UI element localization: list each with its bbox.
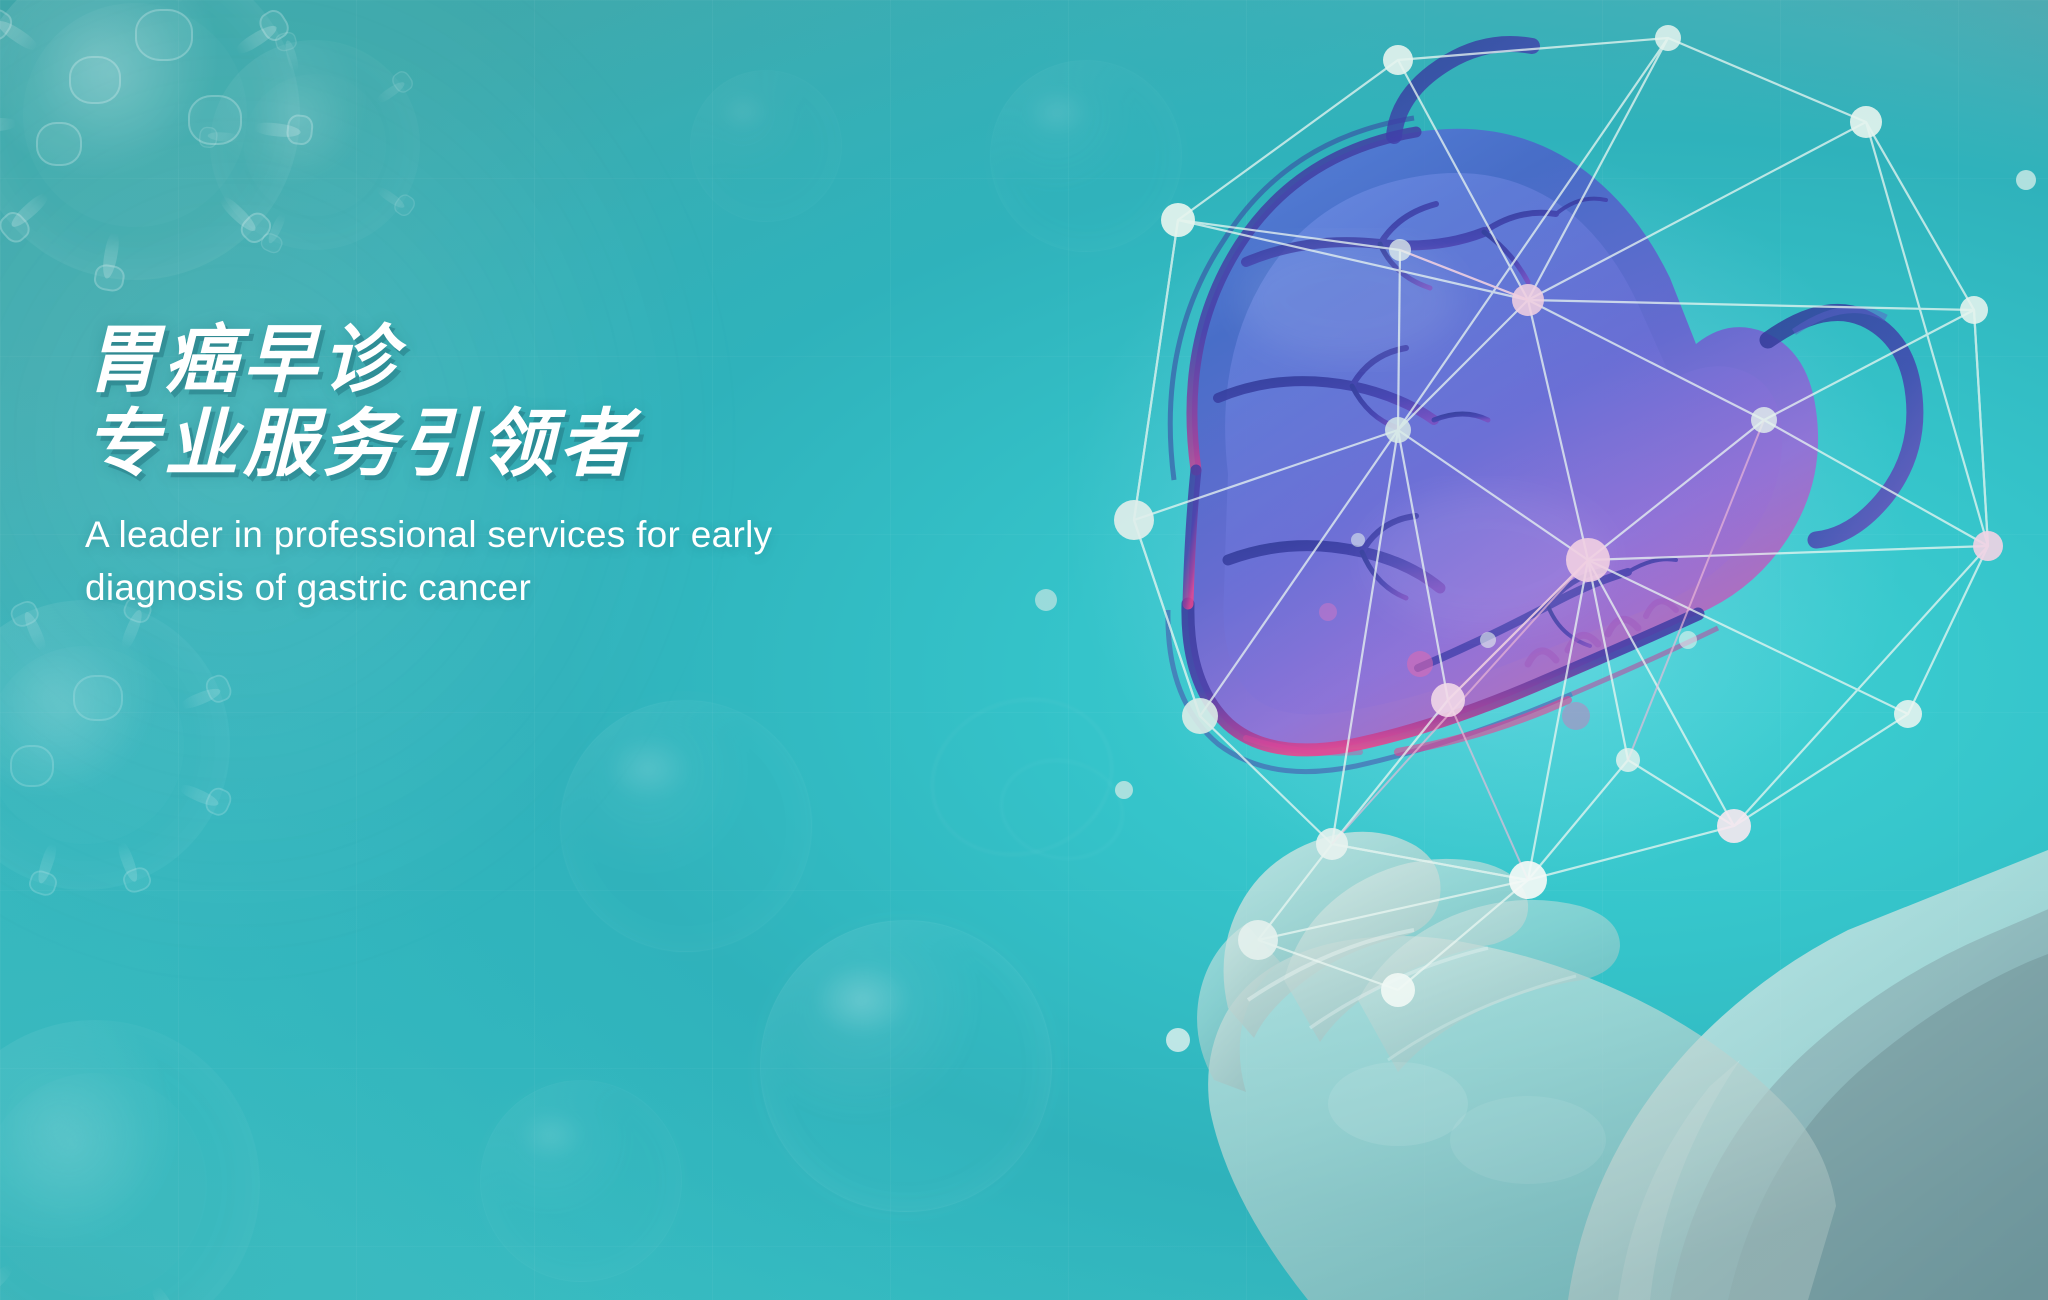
open-hand-icon — [1197, 832, 1836, 1300]
headline-line-2: 专业服务引领者 — [85, 402, 965, 486]
headline-line-1: 胃癌早诊 — [85, 318, 965, 402]
subtitle-line-1: A leader in professional services for ea… — [85, 514, 772, 555]
banner-copy: 胃癌早诊 专业服务引领者 A leader in professional se… — [85, 318, 965, 614]
subtitle: A leader in professional services for ea… — [85, 509, 875, 614]
banner-root: 胃癌早诊 专业服务引领者 A leader in professional se… — [0, 0, 2048, 1300]
subtitle-line-2: diagnosis of gastric cancer — [85, 567, 531, 608]
hero-illustration — [928, 0, 2048, 1300]
